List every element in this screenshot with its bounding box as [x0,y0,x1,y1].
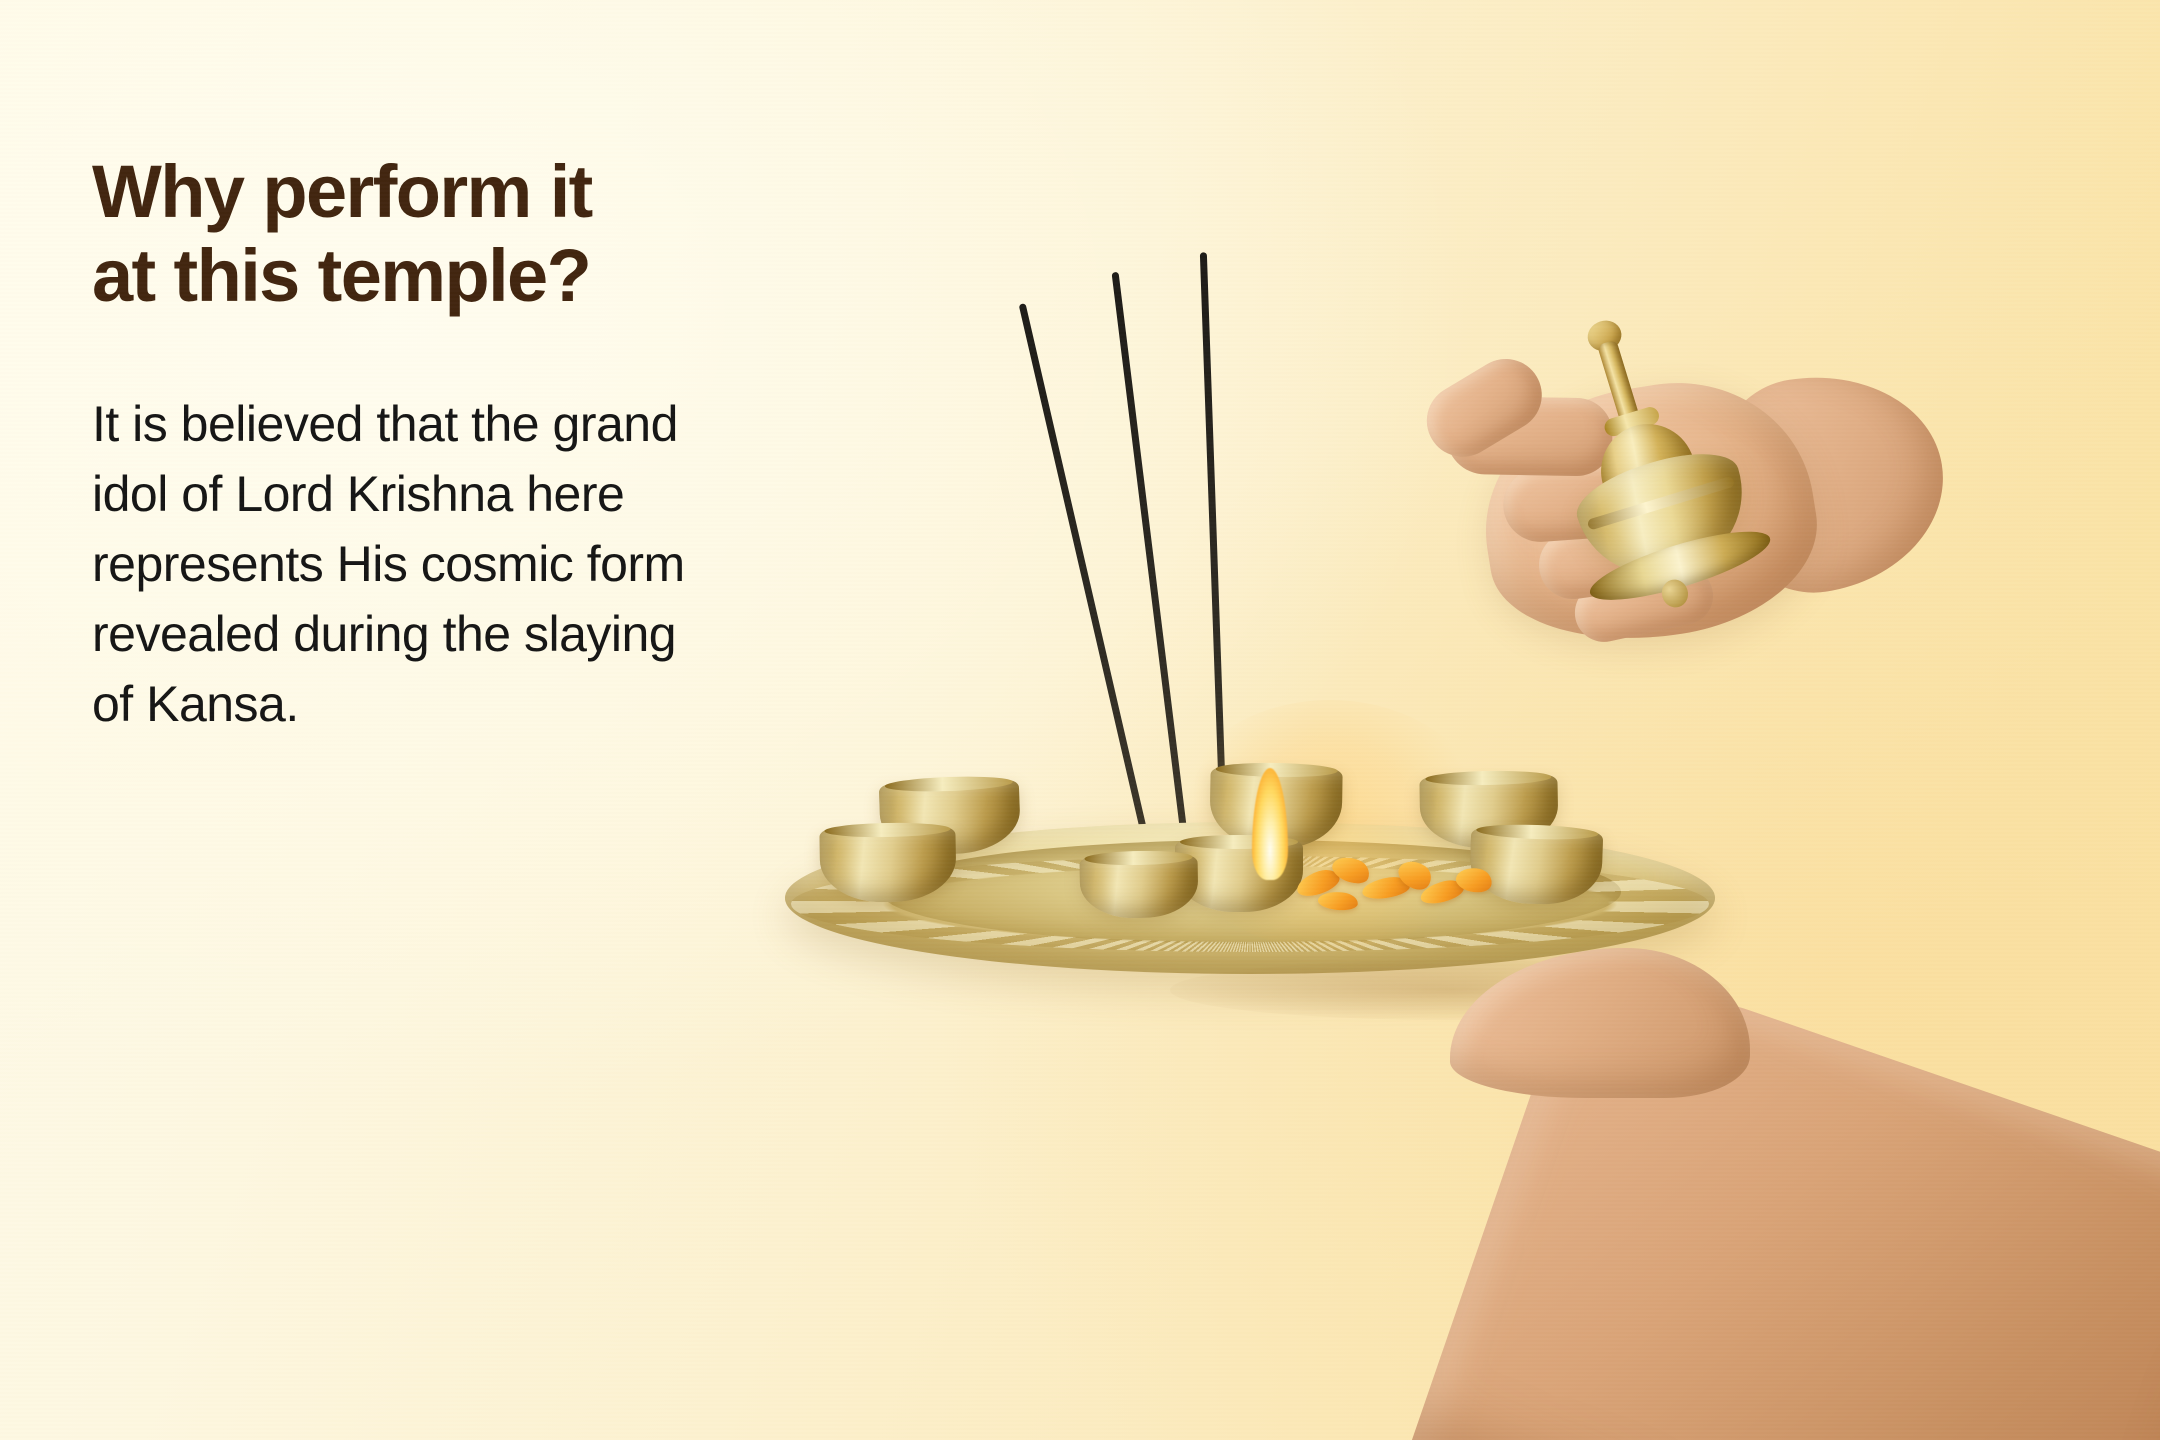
body-paragraph: It is believed that the grand idol of Lo… [92,389,882,739]
lower-palm [1450,948,1750,1098]
body-line-5: of Kansa. [92,669,882,739]
text-column: Why perform it at this temple? It is bel… [92,150,882,739]
body-line-1: It is believed that the grand [92,389,882,459]
thali-supporting-hand [1020,0,2160,1440]
slide-canvas: Why perform it at this temple? It is bel… [0,0,2160,1440]
headline-line-2: at this temple? [92,234,882,318]
body-line-4: revealed during the slaying [92,599,882,669]
body-line-2: idol of Lord Krishna here [92,459,882,529]
page-title: Why perform it at this temple? [92,150,882,319]
puja-photograph [1020,0,2160,1440]
headline-line-1: Why perform it [92,150,882,234]
body-line-3: represents His cosmic form [92,529,882,599]
